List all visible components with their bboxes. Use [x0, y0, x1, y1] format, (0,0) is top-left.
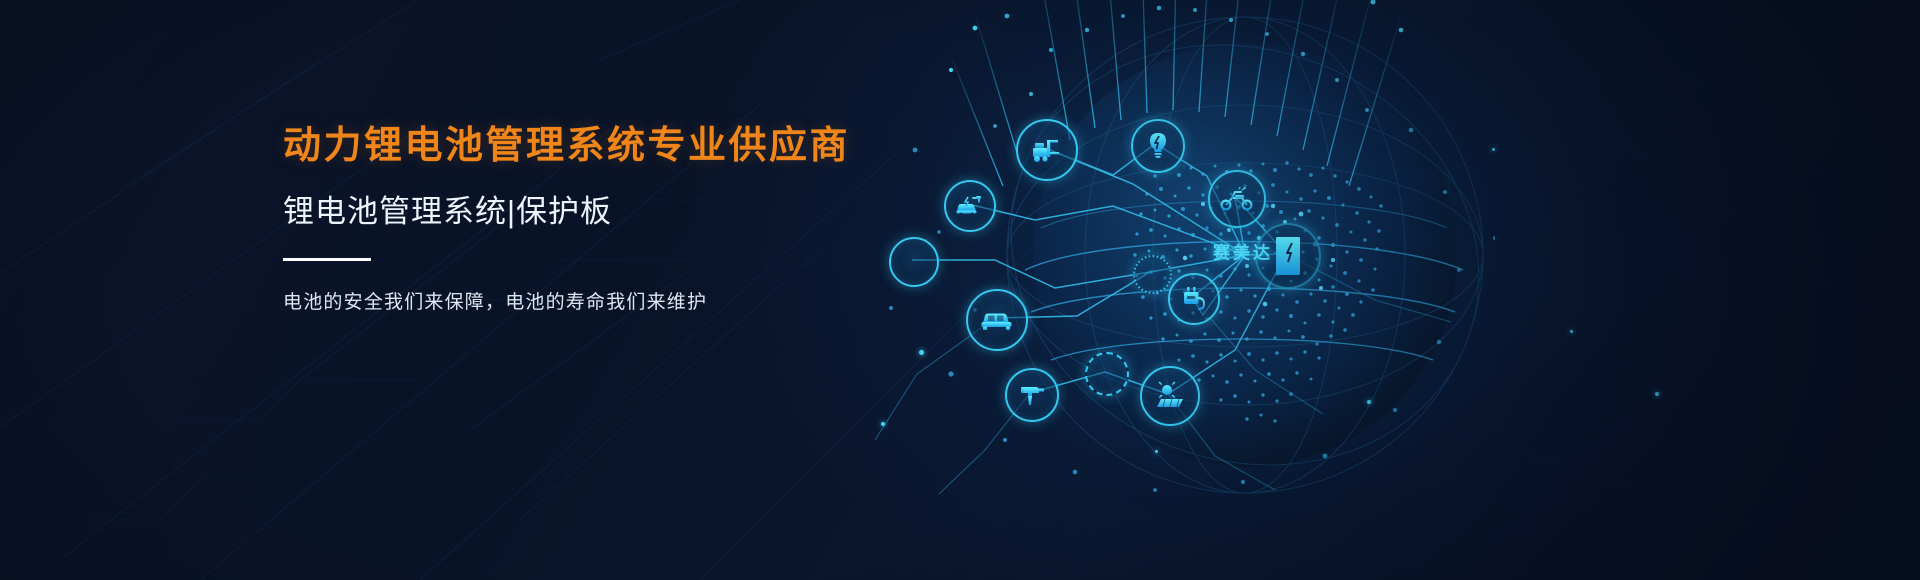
power-drill-glyph	[1019, 382, 1045, 408]
forklift-icon[interactable]	[1016, 119, 1078, 181]
sparkle-dot	[1570, 330, 1573, 333]
car-icon[interactable]	[966, 289, 1028, 351]
hero-banner: 动力锂电池管理系统专业供应商 锂电池管理系统|保护板 电池的安全我们来保障，电池…	[0, 0, 1920, 580]
sparkle-dot	[881, 422, 885, 426]
battery-pack-glyph	[1274, 235, 1302, 277]
forklift-glyph	[1031, 137, 1063, 163]
globe-brand-label: 赛美达	[1213, 239, 1273, 264]
plug-icon[interactable]	[1168, 273, 1220, 325]
small-empty-node-icon[interactable]	[1085, 352, 1129, 396]
network-globe-graphic: 赛美达	[855, 0, 1495, 580]
solar-panel-glyph	[1154, 381, 1186, 411]
sparkle-dot	[1492, 148, 1495, 151]
scooter-icon[interactable]	[1208, 170, 1266, 228]
empty-node-icon[interactable]	[889, 237, 939, 287]
sparkle-dot	[1655, 392, 1659, 396]
power-drill-icon[interactable]	[1005, 368, 1059, 422]
scooter-glyph	[1220, 187, 1254, 211]
ev-charging-car-icon[interactable]	[944, 180, 996, 232]
sparkle-dot	[1155, 450, 1158, 453]
sparkle-dot	[919, 350, 924, 355]
title-divider	[283, 258, 371, 261]
ev-charging-car-glyph	[955, 195, 985, 217]
sparkle-dot	[1367, 400, 1371, 404]
dotted-ring-icon[interactable]	[1133, 255, 1172, 294]
lightbulb-glyph	[1147, 132, 1169, 160]
car-glyph	[979, 308, 1015, 332]
solar-panel-icon[interactable]	[1140, 366, 1200, 426]
lightbulb-icon[interactable]	[1131, 119, 1185, 173]
plug-glyph	[1182, 286, 1206, 312]
